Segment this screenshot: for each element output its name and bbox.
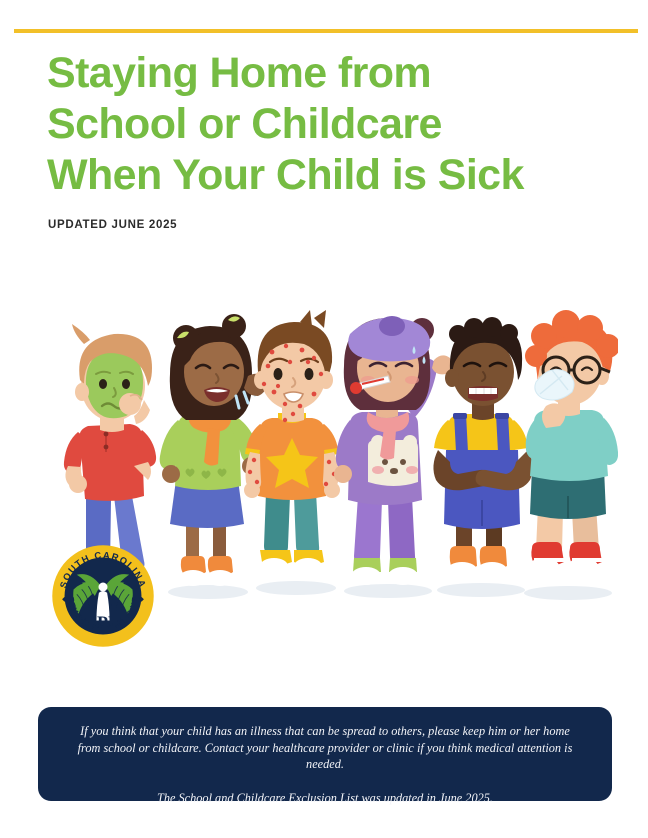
- child-fever: [334, 316, 451, 585]
- callout-paragraph-2: The School and Childcare Exclusion List …: [72, 790, 578, 807]
- sc-dph-logo: DPH SOUTH CAROLINA DEPARTMENT OF PUBLIC …: [37, 542, 169, 650]
- title-line-2: School or Childcare: [47, 99, 627, 150]
- top-gold-rule: [14, 29, 638, 33]
- callout-paragraph-1: If you think that your child has an illn…: [72, 723, 578, 773]
- poster-page: Staying Home from School or Childcare Wh…: [0, 0, 648, 838]
- child-stomach: [433, 317, 532, 578]
- updated-date-label: UPDATED JUNE 2025: [48, 219, 177, 231]
- title-line-3: When Your Child is Sick: [47, 150, 627, 201]
- child-runnynose: [525, 310, 618, 574]
- callout-box: If you think that your child has an illn…: [38, 707, 612, 801]
- page-title: Staying Home from School or Childcare Wh…: [47, 48, 627, 201]
- child-rash: [244, 310, 340, 574]
- title-line-1: Staying Home from: [47, 48, 627, 99]
